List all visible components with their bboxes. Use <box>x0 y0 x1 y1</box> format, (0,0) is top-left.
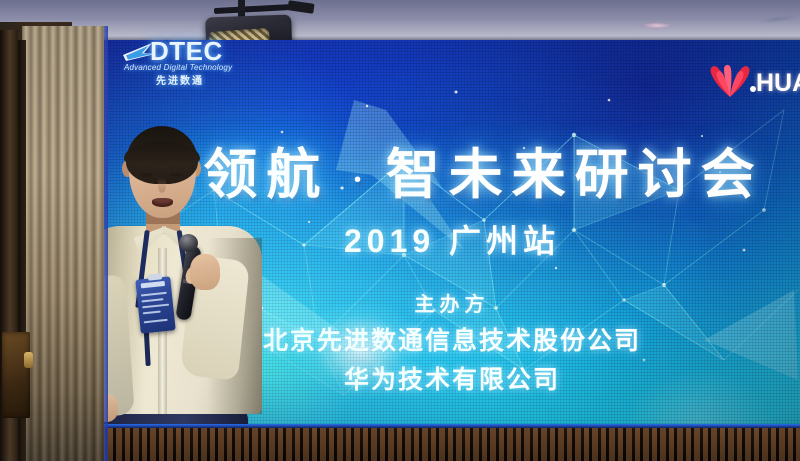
badge-logo-bar <box>141 281 165 288</box>
speaker-eye-right <box>170 173 183 177</box>
speaker-hair-fringe <box>124 142 200 168</box>
huawei-logo: HUA <box>706 62 800 102</box>
ceiling-light-spot <box>640 22 674 29</box>
wood-wall-panel <box>96 428 800 461</box>
dtec-tagline: Advanced Digital Technology <box>124 63 232 72</box>
door-lock-plate <box>2 332 30 418</box>
presentation-photo-scene: DTEC Advanced Digital Technology 先进数通 HU… <box>0 0 800 461</box>
badge-text-line <box>141 298 163 302</box>
badge-text-line <box>142 304 169 309</box>
badge-text-line <box>144 319 168 323</box>
speaker-eye-left <box>140 173 153 177</box>
dtec-chinese-name: 先进数通 <box>156 72 204 87</box>
speaker-nose <box>158 178 166 193</box>
speaker-name-badge <box>135 276 175 333</box>
speaker-right-hand <box>190 254 220 290</box>
huawei-flower-icon <box>706 62 754 98</box>
badge-text-line <box>143 310 161 314</box>
event-title-separator: · <box>352 162 363 199</box>
huawei-wordmark: HUA <box>756 69 800 98</box>
speaker-mouth <box>152 198 173 207</box>
door-handle <box>24 352 33 368</box>
stage-curtain <box>22 26 104 461</box>
dtec-logo: DTEC Advanced Digital Technology 先进数通 <box>122 36 246 84</box>
badge-text-line <box>141 292 167 297</box>
event-title-right: 智未来研讨会 <box>386 145 764 205</box>
